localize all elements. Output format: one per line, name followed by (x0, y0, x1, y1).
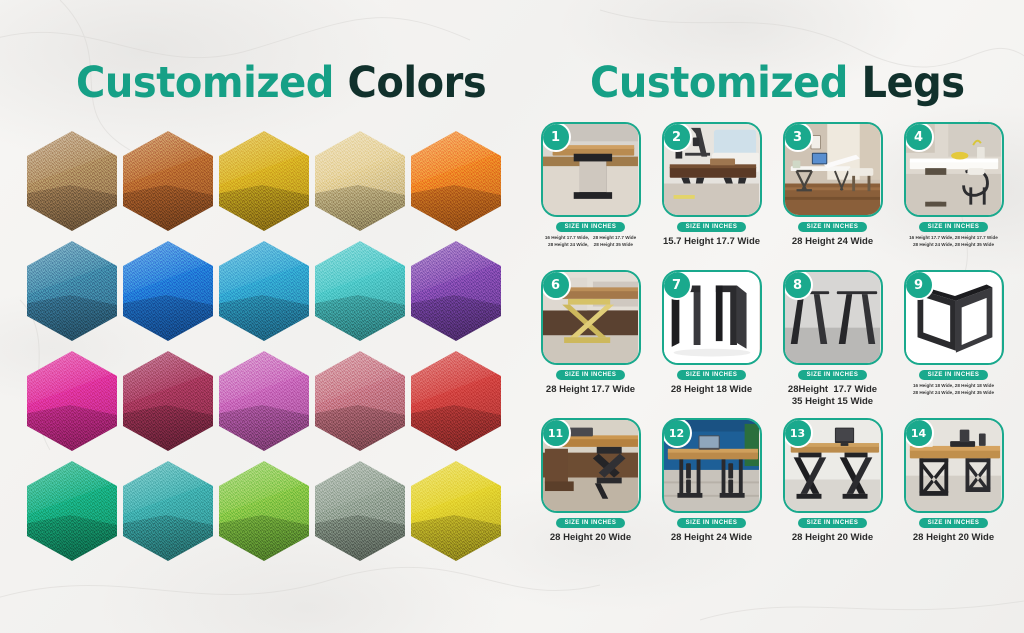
color-swatch-cell (312, 456, 408, 566)
leg-size-line: 28 Height 18 Wide (671, 384, 752, 396)
leg-number-badge-7: 7 (662, 270, 692, 300)
color-swatch-dusty-rose[interactable] (315, 351, 405, 451)
leg-size-line: 35 Height 15 Wide (788, 396, 877, 408)
leg-option-8[interactable]: 8SIZE IN INCHES28Height 17.7 Wide35 Heig… (776, 270, 889, 414)
title-legs-word2: Legs (861, 58, 964, 108)
color-swatch-cell (408, 346, 504, 456)
leg-option-6[interactable]: 6SIZE IN INCHES28 Height 17.7 Wide (534, 270, 647, 414)
leg-number-badge-6: 6 (541, 270, 571, 300)
page-title-legs: Customized Legs (590, 62, 965, 105)
leg-size-line: 28 Height 20 Wide (792, 532, 873, 544)
leg-option-14[interactable]: 14SIZE IN INCHES28 Height 20 Wide (897, 418, 1010, 562)
leg-number-badge-12: 12 (662, 418, 692, 448)
title-colors-word2: Colors (347, 58, 486, 108)
size-in-inches-badge: SIZE IN INCHES (677, 518, 747, 528)
size-in-inches-badge: SIZE IN INCHES (677, 222, 747, 232)
color-swatch-royal-blue[interactable] (123, 241, 213, 341)
leg-size-text-4: 16 Height 17.7 Wide, 28 Height 17.7 Wide… (909, 235, 998, 249)
color-swatch-bright-orange[interactable] (411, 131, 501, 231)
color-swatch-orchid-pink[interactable] (219, 351, 309, 451)
leg-option-9[interactable]: 9SIZE IN INCHES16 Height 18 Wide, 28 Hei… (897, 270, 1010, 414)
color-swatch-cell (120, 126, 216, 236)
leg-option-2[interactable]: 2SIZE IN INCHES15.7 Height 17.7 Wide (655, 122, 768, 266)
leg-size-line: 16 Height 18 Wide, 28 Height 18 Wide (913, 383, 994, 390)
leg-photo-card-4[interactable]: 4 (904, 122, 1004, 217)
leg-size-line: 28 Height 24 Wide (792, 236, 873, 248)
leg-option-7[interactable]: 7SIZE IN INCHES28 Height 18 Wide (655, 270, 768, 414)
color-swatch-champagne-gold[interactable] (315, 131, 405, 231)
leg-size-text-6: 28 Height 17.7 Wide (546, 384, 635, 396)
size-in-inches-badge: SIZE IN INCHES (798, 518, 868, 528)
color-swatch-cell (216, 456, 312, 566)
color-swatch-steel-blue[interactable] (27, 241, 117, 341)
size-in-inches-badge: SIZE IN INCHES (556, 222, 626, 232)
color-swatch-cell (24, 456, 120, 566)
color-swatch-cell (408, 126, 504, 236)
leg-photo-card-12[interactable]: 12 (662, 418, 762, 513)
leg-size-text-13: 28 Height 20 Wide (792, 532, 873, 544)
leg-size-line: 16 Height 17.7 Wide, 28 Height 17.7 Wide (545, 235, 636, 242)
color-swatch-sage-silver-green[interactable] (315, 461, 405, 561)
leg-size-line: 28 Height 20 Wide (550, 532, 631, 544)
leg-number-badge-3: 3 (783, 122, 813, 152)
leg-size-line: 28 Height 17.7 Wide (546, 384, 635, 396)
leg-size-line: 28 Height 24 Wide, 28 Height 35 Wide (909, 242, 998, 249)
color-swatch-copper-rust[interactable] (123, 131, 213, 231)
color-swatch-cell (312, 126, 408, 236)
size-in-inches-badge: SIZE IN INCHES (919, 370, 989, 380)
color-swatch-cell (408, 456, 504, 566)
leg-photo-card-9[interactable]: 9 (904, 270, 1004, 365)
leg-number-badge-2: 2 (662, 122, 692, 152)
leg-size-text-11: 28 Height 20 Wide (550, 532, 631, 544)
color-swatch-lime-green[interactable] (219, 461, 309, 561)
leg-size-line: 15.7 Height 17.7 Wide (663, 236, 760, 248)
leg-size-line: 28 Height 24 Wide, 28 Height 35 Wide (913, 390, 994, 397)
leg-option-3[interactable]: 3SIZE IN INCHES28 Height 24 Wide (776, 122, 889, 266)
color-swatch-cell (216, 236, 312, 346)
color-swatch-gold[interactable] (219, 131, 309, 231)
size-in-inches-badge: SIZE IN INCHES (919, 222, 989, 232)
leg-option-13[interactable]: 13SIZE IN INCHES28 Height 20 Wide (776, 418, 889, 562)
color-swatch-cell (312, 236, 408, 346)
color-swatch-grid (24, 126, 504, 566)
leg-photo-card-8[interactable]: 8 (783, 270, 883, 365)
color-swatch-red[interactable] (411, 351, 501, 451)
leg-number-badge-8: 8 (783, 270, 813, 300)
color-swatch-emerald-green[interactable] (27, 461, 117, 561)
title-legs-word1: Customized (590, 58, 848, 108)
size-in-inches-badge: SIZE IN INCHES (677, 370, 747, 380)
leg-photo-card-6[interactable]: 6 (541, 270, 641, 365)
leg-number-badge-11: 11 (541, 418, 571, 448)
leg-option-12[interactable]: 12SIZE IN INCHES28 Height 24 Wide (655, 418, 768, 562)
size-in-inches-badge: SIZE IN INCHES (798, 370, 868, 380)
leg-number-badge-13: 13 (783, 418, 813, 448)
size-in-inches-badge: SIZE IN INCHES (919, 518, 989, 528)
leg-option-4[interactable]: 4SIZE IN INCHES16 Height 17.7 Wide, 28 H… (897, 122, 1010, 266)
size-in-inches-badge: SIZE IN INCHES (556, 518, 626, 528)
leg-size-text-1: 16 Height 17.7 Wide, 28 Height 17.7 Wide… (545, 235, 636, 249)
leg-size-text-12: 28 Height 24 Wide (671, 532, 752, 544)
color-swatch-bronze-taupe[interactable] (27, 131, 117, 231)
color-swatch-cell (120, 346, 216, 456)
leg-number-badge-9: 9 (904, 270, 934, 300)
leg-photo-card-7[interactable]: 7 (662, 270, 762, 365)
leg-size-line: 28Height 17.7 Wide (788, 384, 877, 396)
color-swatch-cell (408, 236, 504, 346)
leg-size-text-3: 28 Height 24 Wide (792, 236, 873, 248)
size-in-inches-badge: SIZE IN INCHES (556, 370, 626, 380)
color-swatch-cell (24, 126, 120, 236)
leg-size-text-14: 28 Height 20 Wide (913, 532, 994, 544)
leg-photo-card-1[interactable]: 1 (541, 122, 641, 217)
color-swatch-teal[interactable] (123, 461, 213, 561)
color-swatch-cyan-blue[interactable] (219, 241, 309, 341)
leg-photo-card-3[interactable]: 3 (783, 122, 883, 217)
color-swatch-cell (216, 346, 312, 456)
leg-number-badge-14: 14 (904, 418, 934, 448)
leg-size-line: 28 Height 24 Wide (671, 532, 752, 544)
leg-size-text-8: 28Height 17.7 Wide35 Height 15 Wide (788, 384, 877, 408)
size-in-inches-badge: SIZE IN INCHES (798, 222, 868, 232)
leg-photo-card-11[interactable]: 11 (541, 418, 641, 513)
leg-size-line: 28 Height 24 Wide, 28 Height 35 Wide (545, 242, 636, 249)
leg-photo-card-2[interactable]: 2 (662, 122, 762, 217)
color-swatch-hot-pink-magenta[interactable] (27, 351, 117, 451)
product-spec-poster: Customized Colors Customized Legs 1SIZE … (0, 0, 1024, 633)
leg-photo-card-13[interactable]: 13 (783, 418, 883, 513)
leg-option-11[interactable]: 11SIZE IN INCHES28 Height 20 Wide (534, 418, 647, 562)
leg-number-badge-1: 1 (541, 122, 571, 152)
leg-size-text-9: 16 Height 18 Wide, 28 Height 18 Wide28 H… (913, 383, 994, 397)
leg-size-line: 16 Height 17.7 Wide, 28 Height 17.7 Wide (909, 235, 998, 242)
leg-option-1[interactable]: 1SIZE IN INCHES16 Height 17.7 Wide, 28 H… (534, 122, 647, 266)
color-swatch-cell (120, 236, 216, 346)
color-swatch-deep-berry[interactable] (123, 351, 213, 451)
color-swatch-cell (312, 346, 408, 456)
leg-size-line: 28 Height 20 Wide (913, 532, 994, 544)
color-swatch-cell (216, 126, 312, 236)
color-swatch-cell (24, 236, 120, 346)
color-swatch-yellow[interactable] (411, 461, 501, 561)
color-swatch-purple[interactable] (411, 241, 501, 341)
page-title-colors: Customized Colors (76, 62, 486, 105)
leg-number-badge-4: 4 (904, 122, 934, 152)
title-colors-word1: Customized (76, 58, 334, 108)
leg-size-text-7: 28 Height 18 Wide (671, 384, 752, 396)
leg-photo-card-14[interactable]: 14 (904, 418, 1004, 513)
color-swatch-cell (120, 456, 216, 566)
color-swatch-turquoise[interactable] (315, 241, 405, 341)
color-swatch-cell (24, 346, 120, 456)
leg-option-grid: 1SIZE IN INCHES16 Height 17.7 Wide, 28 H… (534, 122, 1010, 562)
leg-size-text-2: 15.7 Height 17.7 Wide (663, 236, 760, 248)
